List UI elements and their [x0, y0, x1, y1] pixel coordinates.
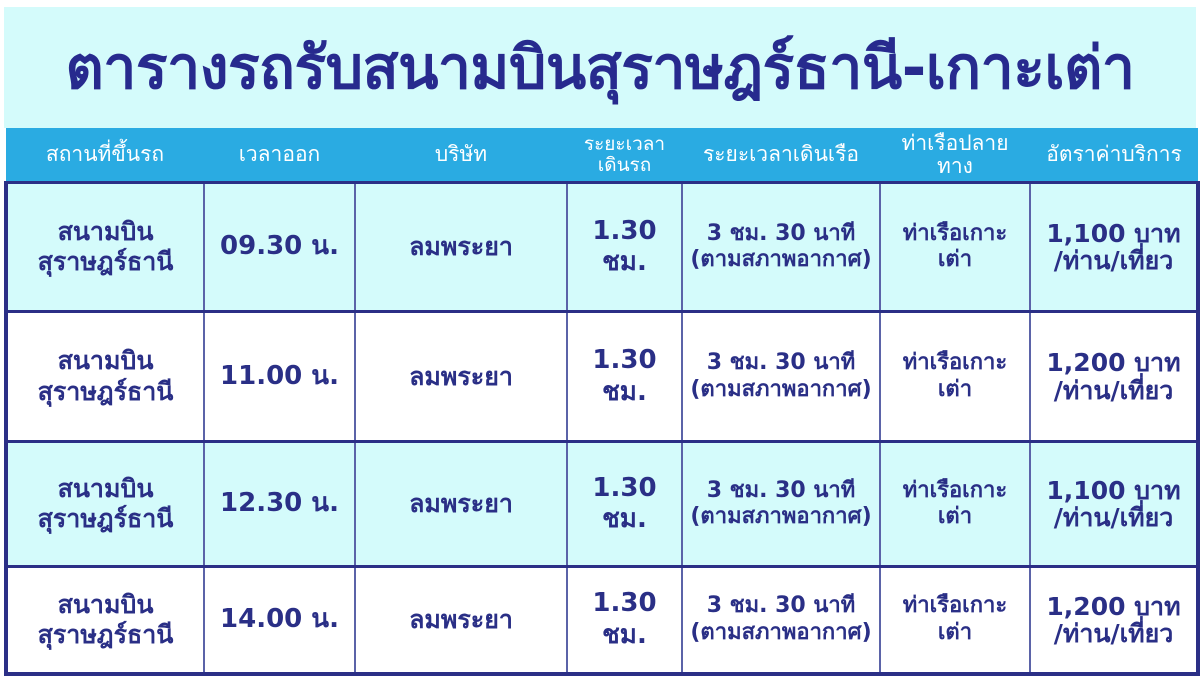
column-header-pickup-place: สถานที่ขึ้นรถ — [6, 128, 204, 183]
service-rate-amount: 1,100 บาท — [1046, 219, 1180, 248]
cell-destination-pier: ท่าเรือเกาะเต่า — [880, 312, 1030, 442]
service-rate-unit: /ท่าน/เที่ยว — [1054, 246, 1174, 275]
cell-destination-pier: ท่าเรือเกาะเต่า — [880, 567, 1030, 674]
cell-boat-duration: 3 ชม. 30 นาที (ตามสภาพอากาศ) — [682, 442, 880, 567]
cell-company: ลมพระยา — [355, 312, 567, 442]
cell-departure-time: 12.30 น. — [204, 442, 355, 567]
service-rate-amount: 1,100 บาท — [1046, 476, 1180, 505]
column-header-departure-time: เวลาออก — [204, 128, 355, 183]
table-row: สนามบิน สุราษฎร์ธานี 14.00 น. ลมพระยา 1.… — [6, 567, 1198, 674]
service-rate-unit: /ท่าน/เที่ยว — [1054, 619, 1174, 648]
cell-bus-duration: 1.30 ชม. — [567, 567, 682, 674]
cell-service-rate: 1,200 บาท /ท่าน/เที่ยว — [1030, 567, 1198, 674]
cell-service-rate: 1,100 บาท /ท่าน/เที่ยว — [1030, 442, 1198, 567]
service-rate-unit: /ท่าน/เที่ยว — [1054, 503, 1174, 532]
pickup-place-line1: สนามบิน — [58, 590, 154, 619]
cell-boat-duration: 3 ชม. 30 นาที (ตามสภาพอากาศ) — [682, 183, 880, 312]
bus-boat-schedule-table: สถานที่ขึ้นรถ เวลาออก บริษัท ระยะเวลา เด… — [4, 128, 1200, 676]
pickup-place-line2: สุราษฎร์ธานี — [38, 247, 174, 276]
table-row: สนามบิน สุราษฎร์ธานี 09.30 น. ลมพระยา 1.… — [6, 183, 1198, 312]
cell-destination-pier: ท่าเรือเกาะเต่า — [880, 442, 1030, 567]
title-banner: ตารางรถรับสนามบินสุราษฎร์ธานี-เกาะเต่า — [4, 7, 1196, 128]
table-header: สถานที่ขึ้นรถ เวลาออก บริษัท ระยะเวลา เด… — [6, 128, 1198, 183]
cell-service-rate: 1,200 บาท /ท่าน/เที่ยว — [1030, 312, 1198, 442]
boat-duration-line2: (ตามสภาพอากาศ) — [690, 504, 871, 529]
boat-duration-line1: 3 ชม. 30 นาที — [707, 478, 856, 503]
table-row: สนามบิน สุราษฎร์ธานี 11.00 น. ลมพระยา 1.… — [6, 312, 1198, 442]
cell-departure-time: 14.00 น. — [204, 567, 355, 674]
cell-company: ลมพระยา — [355, 567, 567, 674]
cell-departure-time: 09.30 น. — [204, 183, 355, 312]
column-header-boat-duration: ระยะเวลาเดินเรือ — [682, 128, 880, 183]
pickup-place-line1: สนามบิน — [58, 346, 154, 375]
column-header-destination-pier: ท่าเรือปลายทาง — [880, 128, 1030, 183]
table-header-row: สถานที่ขึ้นรถ เวลาออก บริษัท ระยะเวลา เด… — [6, 128, 1198, 183]
cell-pickup-place: สนามบิน สุราษฎร์ธานี — [6, 442, 204, 567]
column-header-bus-duration: ระยะเวลา เดินรถ — [567, 128, 682, 183]
cell-pickup-place: สนามบิน สุราษฎร์ธานี — [6, 183, 204, 312]
column-header-bus-duration-line2: เดินรถ — [598, 154, 652, 176]
pickup-place-line2: สุราษฎร์ธานี — [38, 504, 174, 533]
cell-bus-duration: 1.30 ชม. — [567, 442, 682, 567]
cell-bus-duration: 1.30 ชม. — [567, 183, 682, 312]
pickup-place-line1: สนามบิน — [58, 474, 154, 503]
table-body: สนามบิน สุราษฎร์ธานี 09.30 น. ลมพระยา 1.… — [6, 183, 1198, 674]
page-title: ตารางรถรับสนามบินสุราษฎร์ธานี-เกาะเต่า — [65, 37, 1134, 99]
cell-departure-time: 11.00 น. — [204, 312, 355, 442]
schedule-page: ตารางรถรับสนามบินสุราษฎร์ธานี-เกาะเต่า ส… — [0, 0, 1200, 677]
column-header-company: บริษัท — [355, 128, 567, 183]
cell-company: ลมพระยา — [355, 183, 567, 312]
column-header-bus-duration-line1: ระยะเวลา — [584, 133, 665, 155]
cell-destination-pier: ท่าเรือเกาะเต่า — [880, 183, 1030, 312]
column-header-service-rate: อัตราค่าบริการ — [1030, 128, 1198, 183]
boat-duration-line1: 3 ชม. 30 นาที — [707, 593, 856, 618]
boat-duration-line2: (ตามสภาพอากาศ) — [690, 620, 871, 645]
service-rate-unit: /ท่าน/เที่ยว — [1054, 376, 1174, 405]
cell-bus-duration: 1.30 ชม. — [567, 312, 682, 442]
boat-duration-line2: (ตามสภาพอากาศ) — [690, 377, 871, 402]
service-rate-amount: 1,200 บาท — [1046, 592, 1180, 621]
boat-duration-line1: 3 ชม. 30 นาที — [707, 221, 856, 246]
pickup-place-line1: สนามบิน — [58, 217, 154, 246]
cell-company: ลมพระยา — [355, 442, 567, 567]
cell-pickup-place: สนามบิน สุราษฎร์ธานี — [6, 567, 204, 674]
boat-duration-line2: (ตามสภาพอากาศ) — [690, 247, 871, 272]
pickup-place-line2: สุราษฎร์ธานี — [38, 620, 174, 649]
pickup-place-line2: สุราษฎร์ธานี — [38, 377, 174, 406]
table-row: สนามบิน สุราษฎร์ธานี 12.30 น. ลมพระยา 1.… — [6, 442, 1198, 567]
boat-duration-line1: 3 ชม. 30 นาที — [707, 350, 856, 375]
cell-boat-duration: 3 ชม. 30 นาที (ตามสภาพอากาศ) — [682, 312, 880, 442]
cell-boat-duration: 3 ชม. 30 นาที (ตามสภาพอากาศ) — [682, 567, 880, 674]
cell-pickup-place: สนามบิน สุราษฎร์ธานี — [6, 312, 204, 442]
service-rate-amount: 1,200 บาท — [1046, 348, 1180, 377]
cell-service-rate: 1,100 บาท /ท่าน/เที่ยว — [1030, 183, 1198, 312]
